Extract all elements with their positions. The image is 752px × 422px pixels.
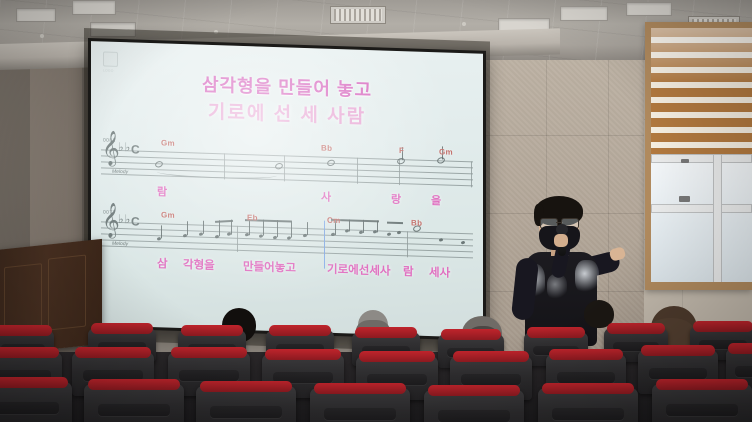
time-signature: C bbox=[131, 214, 140, 228]
lyric-syllable: 세사 bbox=[429, 264, 450, 281]
seat bbox=[84, 384, 184, 422]
chord-symbol: Cm bbox=[327, 216, 341, 225]
seat bbox=[652, 384, 752, 422]
chord-symbol: Bb bbox=[411, 218, 422, 227]
window-inner bbox=[651, 28, 752, 282]
track-name-label: Melody bbox=[112, 169, 128, 176]
window-sash-mid bbox=[651, 204, 752, 213]
ceiling-air-vent bbox=[330, 6, 386, 24]
window-latch bbox=[679, 196, 690, 202]
track-name-label: Melody bbox=[112, 241, 128, 248]
lyric-syllable: 랑 bbox=[391, 191, 401, 207]
ceiling-sprinkler bbox=[462, 22, 466, 26]
window-blinds bbox=[651, 28, 752, 156]
window-with-zebra-blinds bbox=[645, 22, 752, 290]
sweater-pattern bbox=[547, 274, 567, 300]
key-signature: ♭♭ bbox=[118, 140, 131, 154]
time-signature: C bbox=[131, 142, 140, 156]
lyric-syllable: 람 bbox=[403, 263, 414, 279]
lyric-syllable: 삼 bbox=[157, 255, 168, 271]
playback-cursor bbox=[324, 221, 325, 269]
projection-screen-border: LOGO 삼각형을 만들어 놓고 기로에 선 세 사람 0081 𝄞 ♭♭ C … bbox=[88, 38, 486, 341]
lyric-syllable: 기로에선세사 bbox=[327, 261, 390, 279]
ceiling-light-panel bbox=[560, 6, 608, 21]
presenter-left-hand bbox=[554, 234, 568, 247]
staff-lines bbox=[101, 149, 473, 187]
lyric-syllable: 사 bbox=[321, 189, 331, 205]
seat bbox=[538, 388, 638, 422]
window-mullion bbox=[713, 154, 722, 282]
projection-screen: LOGO 삼각형을 만들어 놓고 기로에 선 세 사람 0081 𝄞 ♭♭ C … bbox=[91, 41, 483, 338]
key-signature: ♭♭ bbox=[118, 212, 131, 226]
ceiling-light-panel bbox=[72, 0, 116, 15]
presenter-right-hand bbox=[609, 246, 627, 262]
seat bbox=[0, 382, 72, 422]
sweater-pattern bbox=[575, 260, 599, 294]
score-system-2: 0077 𝄞 ♭♭ C Melody bbox=[99, 209, 477, 221]
seat bbox=[424, 390, 524, 422]
chord-symbol: F bbox=[399, 146, 404, 155]
auditorium-photo: LOGO 삼각형을 만들어 놓고 기로에 선 세 사람 0081 𝄞 ♭♭ C … bbox=[0, 0, 752, 422]
seat bbox=[310, 388, 410, 422]
lyric-syllable: 만들어놓고 bbox=[243, 258, 296, 276]
window-glass bbox=[651, 156, 752, 282]
chord-symbol: Gm bbox=[161, 210, 175, 219]
chord-symbol: Gm bbox=[439, 147, 453, 156]
window-lock bbox=[681, 159, 689, 163]
ceiling-light-panel bbox=[16, 8, 56, 22]
ceiling-sprinkler bbox=[40, 34, 44, 38]
seat bbox=[196, 386, 296, 422]
score-system-1: 0081 𝄞 ♭♭ C Melody bbox=[99, 137, 477, 149]
window-sash-top bbox=[651, 154, 752, 163]
lyric-syllable: 람 bbox=[157, 183, 167, 199]
lyric-syllable: 을 bbox=[431, 192, 441, 208]
lyric-syllable: 각형을 bbox=[183, 256, 215, 273]
chord-symbol: Gm bbox=[161, 138, 175, 147]
ceiling-light-panel bbox=[626, 2, 672, 16]
chord-symbol: Eb bbox=[247, 213, 258, 222]
chord-symbol: Bb bbox=[321, 144, 332, 153]
